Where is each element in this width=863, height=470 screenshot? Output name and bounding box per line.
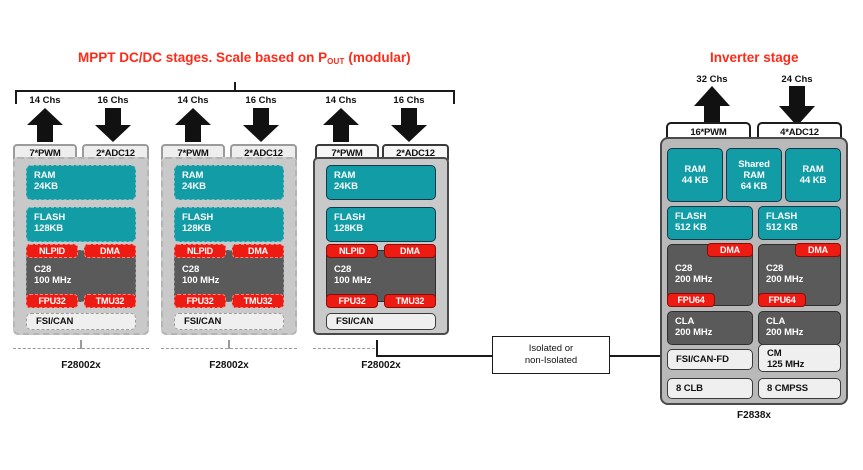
stage1-part-number: F28002x	[46, 360, 116, 371]
mppt-bracket-tick	[234, 82, 236, 91]
stage1-ram-tile: RAM 24KB	[26, 165, 136, 200]
isolation-box: Isolated or non-Isolated	[492, 336, 610, 374]
stage3-nlpid-chip: NLPID	[326, 244, 378, 258]
isolation-to-inverter-horizontal	[610, 355, 662, 357]
stage1-pwm-up-arrow-icon	[27, 108, 63, 142]
inverter-dma-right-chip: DMA	[795, 243, 841, 257]
mppt-section-title: MPPT DC/DC stages. Scale based on POUT (…	[78, 50, 411, 65]
inverter-adc-down-arrow-icon	[779, 86, 815, 126]
stage3-ram-tile: RAM 24KB	[326, 165, 436, 200]
inverter-section-title: Inverter stage	[710, 50, 799, 65]
stage2-ram-tile: RAM 24KB	[174, 165, 284, 200]
stage2-bus-stub	[228, 340, 230, 349]
inverter-cla-right-tile: CLA 200 MHz	[758, 311, 841, 345]
inverter-part-number: F2838x	[719, 410, 789, 421]
stage2-dma-chip: DMA	[232, 244, 284, 258]
stage3-to-isolation-horizontal	[376, 355, 493, 357]
stage1-dma-chip: DMA	[84, 244, 136, 258]
inverter-adc-channels: 24 Chs	[772, 74, 822, 85]
inverter-flash-right-tile: FLASH 512 KB	[758, 206, 841, 240]
inverter-pwm-up-arrow-icon	[694, 86, 730, 126]
stage1-flash-tile: FLASH 128KB	[26, 207, 136, 242]
stage2-pwm-up-arrow-icon	[175, 108, 211, 142]
inverter-fpu64-left-chip: FPU64	[667, 293, 715, 307]
stage3-to-isolation-vertical	[376, 340, 378, 356]
inverter-dma-left-chip: DMA	[707, 243, 753, 257]
mppt-title-suffix: (modular)	[345, 50, 411, 65]
stage3-pwm-channels: 14 Chs	[316, 95, 366, 106]
stage1-tmu32-chip: TMU32	[84, 294, 136, 308]
stage1-fpu32-chip: FPU32	[26, 294, 78, 308]
stage3-fpu32-chip: FPU32	[326, 294, 378, 308]
inverter-ram-right-tile: RAM 44 KB	[785, 148, 841, 202]
inverter-fpu64-right-chip: FPU64	[758, 293, 806, 307]
stage1-bus-stub	[80, 340, 82, 349]
stage3-tmu32-chip: TMU32	[384, 294, 436, 308]
stage1-pwm-channels: 14 Chs	[20, 95, 70, 106]
inverter-ram-shared-tile: Shared RAM 64 KB	[726, 148, 782, 202]
stage2-part-number: F28002x	[194, 360, 264, 371]
stage2-comms-tile: FSI/CAN	[174, 313, 284, 330]
stage1-comms-tile: FSI/CAN	[26, 313, 136, 330]
inverter-comms-left-tile: FSI/CAN-FD	[667, 349, 753, 370]
inverter-cm-right-tile: CM 125 MHz	[758, 344, 841, 372]
stage3-flash-tile: FLASH 128KB	[326, 207, 436, 242]
stage3-adc-channels: 16 Chs	[384, 95, 434, 106]
stage2-fpu32-chip: FPU32	[174, 294, 226, 308]
stage1-adc-down-arrow-icon	[95, 108, 131, 142]
stage2-adc-down-arrow-icon	[243, 108, 279, 142]
stage3-dma-chip: DMA	[384, 244, 436, 258]
stage2-pwm-channels: 14 Chs	[168, 95, 218, 106]
stage2-nlpid-chip: NLPID	[174, 244, 226, 258]
stage3-adc-down-arrow-icon	[391, 108, 427, 142]
inverter-cmpss-right-tile: 8 CMPSS	[758, 378, 841, 399]
inverter-flash-left-tile: FLASH 512 KB	[667, 206, 753, 240]
stage1-nlpid-chip: NLPID	[26, 244, 78, 258]
inverter-ram-left-tile: RAM 44 KB	[667, 148, 723, 202]
stage3-part-number: F28002x	[346, 360, 416, 371]
inverter-clb-left-tile: 8 CLB	[667, 378, 753, 399]
stage3-comms-tile: FSI/CAN	[326, 313, 436, 330]
inverter-pwm-channels: 32 Chs	[687, 74, 737, 85]
inverter-cla-left-tile: CLA 200 MHz	[667, 311, 753, 345]
stage1-adc-channels: 16 Chs	[88, 95, 138, 106]
mppt-title-subscript: OUT	[327, 57, 345, 66]
stage2-adc-channels: 16 Chs	[236, 95, 286, 106]
stage3-pwm-up-arrow-icon	[323, 108, 359, 142]
mppt-title-prefix: MPPT DC/DC stages. Scale based on P	[78, 50, 327, 65]
stage2-tmu32-chip: TMU32	[232, 294, 284, 308]
stage2-flash-tile: FLASH 128KB	[174, 207, 284, 242]
stage3-bus-dashed-line	[313, 348, 375, 349]
